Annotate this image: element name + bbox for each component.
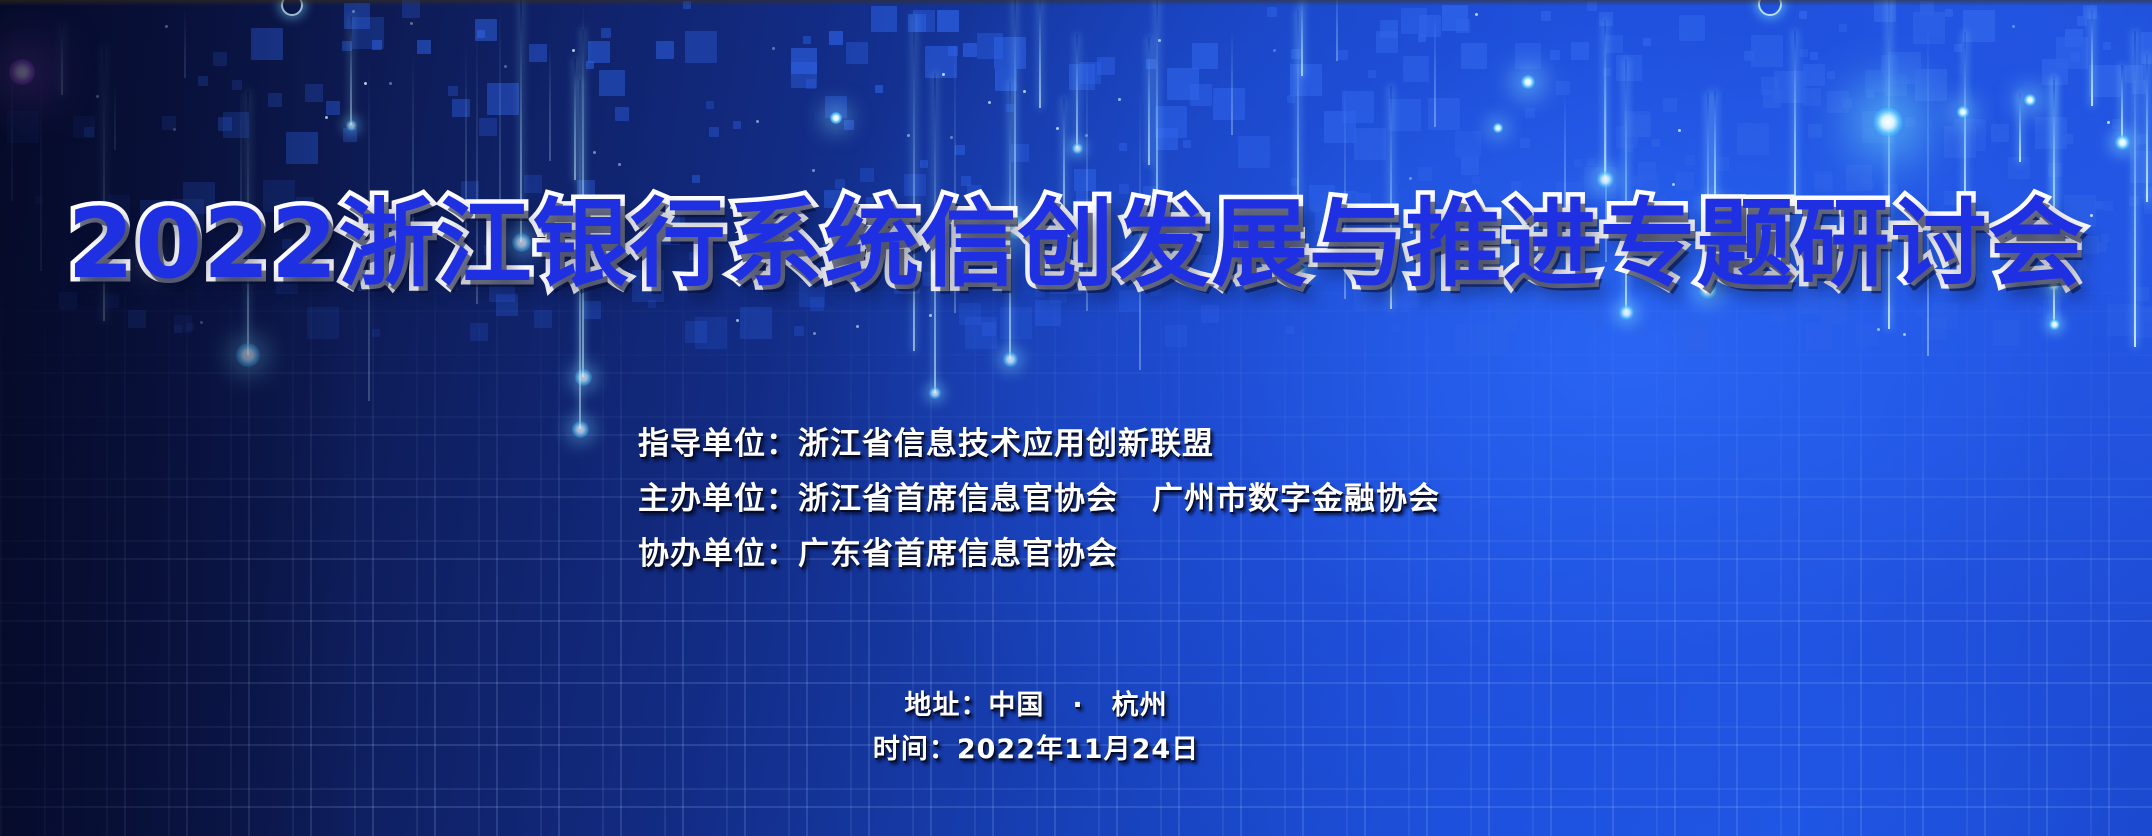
light-trail-dot bbox=[1619, 305, 1634, 320]
mosaic-square bbox=[871, 6, 897, 32]
mosaic-square bbox=[1455, 131, 1481, 157]
mosaic-square bbox=[2048, 163, 2062, 177]
background-spark bbox=[1903, 333, 1906, 336]
mosaic-square bbox=[2089, 65, 2121, 97]
mosaic-square bbox=[1461, 157, 1479, 175]
conference-banner: 2022浙江银行系统信创发展与推进专题研讨会 指导单位：浙江省信息技术应用创新联… bbox=[0, 0, 2152, 836]
mosaic-square bbox=[1827, 71, 1835, 79]
mosaic-square bbox=[1945, 9, 1953, 17]
mosaic-square bbox=[1541, 11, 1551, 21]
title-container: 2022浙江银行系统信创发展与推进专题研讨会 bbox=[0, 196, 2152, 292]
mosaic-square bbox=[2077, 16, 2087, 26]
mosaic-square bbox=[529, 44, 547, 62]
mosaic-square bbox=[1190, 84, 1212, 106]
light-trail bbox=[1076, 34, 1078, 148]
guidance-label: 指导单位： bbox=[638, 426, 798, 462]
mosaic-square bbox=[1587, 158, 1595, 166]
mosaic-square bbox=[706, 101, 714, 109]
light-trail-dot bbox=[2049, 319, 2060, 330]
mosaic-square bbox=[1652, 139, 1660, 147]
light-trail-dot bbox=[572, 421, 589, 438]
mosaic-square bbox=[994, 37, 1026, 69]
venue-line-date: 时间：2022年11月24日 bbox=[0, 728, 2072, 772]
light-trail-dot bbox=[2115, 135, 2130, 150]
background-spark bbox=[812, 169, 815, 172]
cohost-value: 广东省首席信息官协会 bbox=[798, 536, 1118, 572]
mosaic-square bbox=[1588, 309, 1606, 327]
mosaic-square bbox=[1808, 124, 1822, 138]
light-trail bbox=[1231, 30, 1233, 135]
light-trail bbox=[1794, 31, 1796, 201]
mosaic-square bbox=[846, 42, 868, 64]
address-label: 地址： bbox=[904, 690, 988, 721]
mosaic-square bbox=[1035, 300, 1061, 326]
mosaic-square bbox=[1616, 55, 1642, 81]
light-trail bbox=[549, 42, 551, 161]
mosaic-square bbox=[1456, 19, 1470, 33]
background-spark bbox=[572, 49, 575, 52]
mosaic-square bbox=[1338, 50, 1348, 60]
mosaic-square bbox=[860, 168, 874, 182]
mosaic-square bbox=[417, 40, 431, 54]
mosaic-square bbox=[844, 120, 854, 130]
mosaic-square bbox=[1291, 49, 1301, 59]
mosaic-square bbox=[1954, 119, 1986, 151]
mosaic-square bbox=[1389, 99, 1421, 131]
background-spark bbox=[364, 82, 367, 85]
background-spark bbox=[352, 10, 355, 13]
mosaic-square bbox=[1839, 24, 1847, 32]
organiser-block: 指导单位：浙江省信息技术应用创新联盟 主办单位：浙江省首席信息官协会广州市数字金… bbox=[638, 417, 1440, 582]
mosaic-square bbox=[307, 307, 339, 339]
mosaic-square bbox=[1605, 35, 1623, 53]
mosaic-square bbox=[2035, 117, 2067, 149]
light-trail bbox=[2134, 31, 2136, 347]
mosaic-square bbox=[920, 160, 928, 168]
glow-dot bbox=[1521, 75, 1535, 89]
light-trail bbox=[1301, 0, 1303, 76]
mosaic-square bbox=[128, 310, 146, 328]
mosaic-square bbox=[955, 145, 965, 155]
mosaic-square bbox=[1774, 71, 1806, 103]
organiser-line-cohost: 协办单位：广东省首席信息官协会 bbox=[638, 527, 1440, 582]
cohost-label: 协办单位： bbox=[638, 536, 798, 572]
background-spark bbox=[756, 120, 759, 123]
mosaic-square bbox=[1827, 91, 1849, 113]
light-trail bbox=[913, 15, 915, 351]
glow-dot bbox=[9, 59, 35, 85]
mosaic-square bbox=[937, 10, 959, 32]
mosaic-square bbox=[1403, 56, 1429, 82]
light-trail bbox=[2146, 54, 2148, 202]
background-spark bbox=[2107, 121, 2110, 124]
light-trail bbox=[1434, 17, 1436, 127]
mosaic-square bbox=[1991, 124, 2009, 142]
mosaic-square bbox=[84, 127, 94, 137]
mosaic-square bbox=[305, 84, 323, 102]
background-spark bbox=[410, 22, 413, 25]
mosaic-square bbox=[692, 175, 700, 183]
background-spark bbox=[988, 101, 991, 104]
mosaic-square bbox=[218, 117, 232, 131]
background-spark bbox=[504, 65, 507, 68]
mosaic-square bbox=[1993, 320, 2019, 346]
light-trail-dot bbox=[929, 387, 941, 399]
address-value: 中国 · 杭州 bbox=[988, 690, 1167, 721]
mosaic-square bbox=[1859, 179, 1867, 187]
mosaic-square bbox=[733, 121, 741, 129]
mosaic-square bbox=[1267, 7, 1277, 17]
mosaic-square bbox=[1771, 309, 1785, 323]
light-trail-dot bbox=[1597, 171, 1614, 188]
background-spark bbox=[2012, 25, 2015, 28]
mosaic-square bbox=[372, 329, 380, 337]
mosaic-square bbox=[1368, 70, 1376, 78]
top-edge-shade bbox=[0, 0, 2152, 6]
mosaic-square bbox=[1670, 313, 1678, 321]
light-trail bbox=[2121, 65, 2123, 142]
background-spark bbox=[772, 47, 775, 50]
mosaic-square bbox=[198, 76, 208, 86]
mosaic-square bbox=[352, 17, 384, 49]
mosaic-square bbox=[1679, 15, 1705, 41]
mosaic-square bbox=[1550, 50, 1560, 60]
mosaic-square bbox=[1183, 140, 1191, 148]
mosaic-square bbox=[1556, 81, 1570, 95]
mosaic-square bbox=[1663, 98, 1677, 112]
mosaic-square bbox=[1455, 324, 1487, 356]
light-trail bbox=[1148, 37, 1150, 165]
mosaic-square bbox=[948, 46, 958, 56]
mosaic-square bbox=[963, 43, 977, 57]
mosaic-square bbox=[913, 10, 935, 32]
background-spark bbox=[856, 325, 859, 328]
light-trail-dot bbox=[346, 120, 357, 131]
mosaic-square bbox=[1238, 136, 1270, 168]
mosaic-square bbox=[803, 36, 811, 44]
mosaic-square bbox=[1380, 20, 1398, 38]
mosaic-square bbox=[326, 101, 340, 115]
background-spark bbox=[907, 134, 910, 137]
mosaic-square bbox=[232, 80, 242, 90]
mosaic-square bbox=[1685, 155, 1695, 165]
glow-dot bbox=[2024, 94, 2036, 106]
host-label: 主办单位： bbox=[638, 481, 798, 517]
mosaic-square bbox=[1954, 44, 1962, 52]
mosaic-square bbox=[1803, 88, 1821, 106]
mosaic-square bbox=[599, 70, 625, 96]
mosaic-square bbox=[1633, 176, 1643, 186]
mosaic-square bbox=[1286, 326, 1294, 334]
background-spark bbox=[929, 314, 932, 317]
mosaic-square bbox=[656, 41, 674, 59]
mosaic-square bbox=[1192, 43, 1218, 69]
mosaic-square bbox=[1678, 318, 1710, 350]
light-trail-dot bbox=[575, 369, 592, 386]
mosaic-square bbox=[1715, 157, 1729, 171]
mosaic-square bbox=[1571, 42, 1589, 60]
glow-dot bbox=[1493, 123, 1503, 133]
guidance-value: 浙江省信息技术应用创新联盟 bbox=[798, 426, 1214, 462]
mosaic-square bbox=[1165, 325, 1187, 347]
mosaic-square bbox=[1515, 43, 1541, 69]
mosaic-square bbox=[794, 326, 804, 336]
glow-dot bbox=[1957, 106, 1969, 118]
light-trail bbox=[184, 7, 186, 78]
mosaic-square bbox=[1865, 70, 1887, 92]
mosaic-square bbox=[487, 83, 519, 115]
mosaic-square bbox=[1201, 305, 1219, 323]
mosaic-square bbox=[1119, 143, 1127, 151]
mosaic-square bbox=[1915, 69, 1947, 101]
mosaic-square bbox=[583, 301, 601, 319]
venue-block: 地址：中国 · 杭州 时间：2022年11月24日 bbox=[0, 684, 2072, 772]
mosaic-square bbox=[1097, 57, 1115, 75]
mosaic-square bbox=[286, 132, 318, 164]
background-spark bbox=[165, 25, 168, 28]
mosaic-square bbox=[479, 118, 497, 136]
mosaic-square bbox=[1806, 323, 1832, 349]
mosaic-square bbox=[588, 41, 610, 63]
background-spark bbox=[950, 136, 953, 139]
background-spark bbox=[325, 116, 328, 119]
mosaic-square bbox=[1737, 123, 1769, 155]
page-title: 2022浙江银行系统信创发展与推进专题研讨会 bbox=[67, 196, 2084, 292]
mosaic-square bbox=[470, 323, 488, 341]
mosaic-square bbox=[1629, 115, 1651, 137]
background-spark bbox=[593, 151, 596, 154]
date-value: 2022年11月24日 bbox=[957, 734, 1199, 765]
date-label: 时间： bbox=[873, 734, 957, 765]
mosaic-square bbox=[875, 85, 883, 93]
background-spark bbox=[618, 163, 621, 166]
mosaic-square bbox=[475, 19, 497, 41]
mosaic-square bbox=[1354, 128, 1386, 160]
mosaic-square bbox=[740, 307, 772, 339]
mosaic-square bbox=[534, 310, 552, 328]
mosaic-square bbox=[1428, 98, 1460, 130]
mosaic-square bbox=[791, 62, 817, 88]
mosaic-square bbox=[1574, 159, 1582, 167]
mosaic-square bbox=[1418, 167, 1432, 181]
mosaic-square bbox=[2042, 59, 2068, 85]
light-trail bbox=[61, 23, 63, 95]
mosaic-square bbox=[213, 52, 227, 66]
light-trail-dot bbox=[1072, 143, 1083, 154]
light-trail-dot bbox=[236, 343, 260, 367]
mosaic-square bbox=[1496, 297, 1522, 323]
light-trail bbox=[1336, 0, 1338, 61]
mosaic-square bbox=[1287, 95, 1295, 103]
mosaic-square bbox=[1963, 10, 1995, 42]
mosaic-square bbox=[452, 99, 470, 117]
host-value: 浙江省首席信息官协会 bbox=[798, 481, 1118, 517]
background-spark bbox=[1056, 127, 1059, 130]
light-trail bbox=[11, 34, 13, 201]
background-spark bbox=[96, 95, 99, 98]
mosaic-square bbox=[1431, 299, 1441, 309]
mosaic-square bbox=[829, 31, 843, 45]
host-value-secondary: 广州市数字金融协会 bbox=[1152, 481, 1440, 517]
mosaic-square bbox=[709, 127, 719, 137]
mosaic-square bbox=[1401, 8, 1427, 34]
background-spark bbox=[1158, 39, 1161, 42]
mosaic-square bbox=[615, 107, 629, 121]
organiser-line-host: 主办单位：浙江省首席信息官协会广州市数字金融协会 bbox=[638, 472, 1440, 527]
mosaic-square bbox=[1290, 64, 1322, 96]
mosaic-square bbox=[1866, 90, 1874, 98]
background-spark bbox=[1475, 13, 1478, 16]
background-spark bbox=[1877, 328, 1880, 331]
mosaic-square bbox=[1751, 35, 1783, 67]
mosaic-square bbox=[1881, 55, 1899, 73]
background-spark bbox=[200, 321, 203, 324]
venue-line-address: 地址：中国 · 杭州 bbox=[0, 684, 2072, 728]
glow-dot bbox=[830, 112, 842, 124]
background-spark bbox=[1409, 177, 1412, 180]
background-spark bbox=[736, 319, 739, 322]
mosaic-square bbox=[1342, 91, 1374, 123]
mosaic-square bbox=[1905, 117, 1915, 127]
mosaic-square bbox=[1643, 38, 1651, 46]
mosaic-square bbox=[601, 28, 611, 38]
light-trail bbox=[1964, 32, 1966, 212]
mosaic-square bbox=[174, 315, 192, 333]
mosaic-square bbox=[1814, 171, 1832, 189]
background-spark bbox=[1273, 49, 1276, 52]
mosaic-square bbox=[1520, 138, 1530, 148]
mosaic-square bbox=[1525, 108, 1535, 118]
mosaic-square bbox=[448, 86, 458, 96]
mosaic-square bbox=[1803, 64, 1825, 86]
mosaic-square bbox=[251, 28, 283, 60]
mosaic-square bbox=[685, 31, 717, 63]
background-spark bbox=[942, 73, 945, 76]
background-spark bbox=[1023, 90, 1026, 93]
mosaic-square bbox=[2103, 42, 2111, 50]
background-spark bbox=[389, 82, 392, 85]
background-spark bbox=[173, 128, 176, 131]
light-trail bbox=[1604, 20, 1606, 179]
background-spark bbox=[1678, 129, 1681, 132]
mosaic-square bbox=[1800, 49, 1808, 57]
glow-dot bbox=[1873, 107, 1903, 137]
light-trail bbox=[574, 58, 576, 180]
organiser-line-guidance: 指导单位：浙江省信息技术应用创新联盟 bbox=[638, 417, 1440, 472]
background-spark bbox=[1118, 98, 1121, 101]
light-trail-dot bbox=[1003, 352, 1018, 367]
light-trail bbox=[2091, 10, 2093, 106]
light-trail bbox=[114, 82, 116, 150]
mosaic-square bbox=[695, 317, 727, 349]
mosaic-square bbox=[1461, 43, 1487, 69]
mosaic-square bbox=[268, 93, 282, 107]
mosaic-square bbox=[1472, 176, 1480, 184]
mosaic-square bbox=[1213, 88, 1245, 120]
mosaic-square bbox=[1599, 12, 1613, 26]
mosaic-square bbox=[1810, 52, 1818, 60]
light-trail bbox=[2019, 93, 2021, 162]
mosaic-square bbox=[1913, 12, 1945, 44]
background-spark bbox=[1085, 134, 1088, 137]
mosaic-square bbox=[1418, 34, 1426, 42]
background-spark bbox=[1672, 183, 1675, 186]
mosaic-square bbox=[1917, 309, 1925, 317]
mosaic-square bbox=[1856, 324, 1878, 346]
light-trail bbox=[350, 16, 352, 125]
mosaic-square bbox=[1744, 51, 1754, 61]
mosaic-square bbox=[1000, 307, 1032, 339]
mosaic-square bbox=[965, 317, 997, 349]
mosaic-square bbox=[1392, 324, 1400, 332]
background-spark bbox=[813, 332, 816, 335]
mosaic-square bbox=[1799, 11, 1807, 19]
light-trail bbox=[1039, 0, 1041, 108]
mosaic-square bbox=[2037, 306, 2045, 314]
mosaic-square bbox=[2043, 300, 2061, 318]
mosaic-square bbox=[1634, 321, 1648, 335]
mosaic-square bbox=[1156, 128, 1178, 150]
